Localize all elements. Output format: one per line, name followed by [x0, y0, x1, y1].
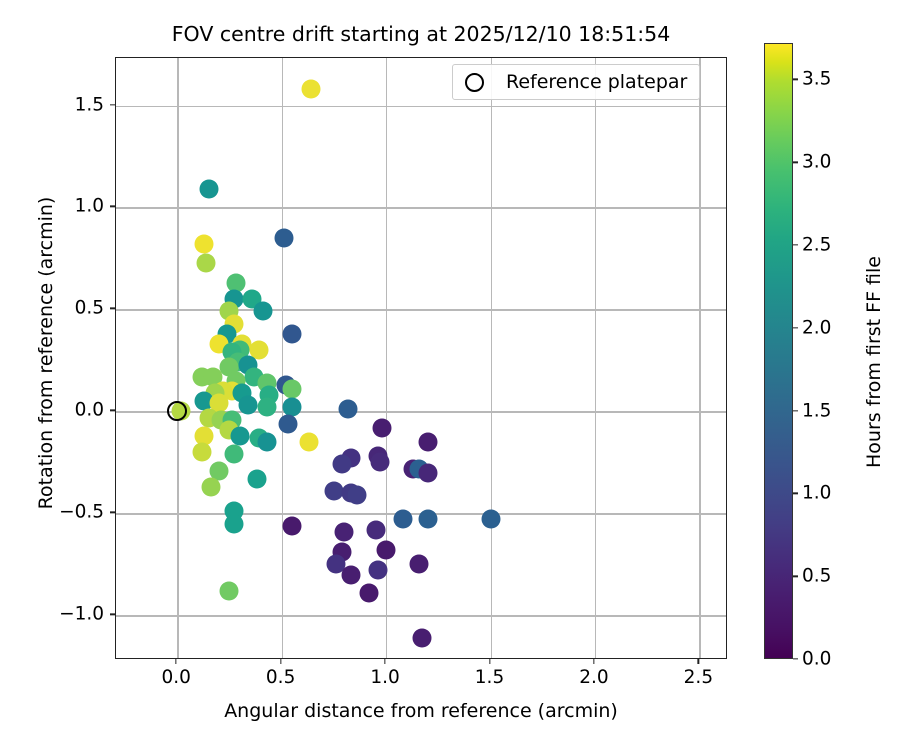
scatter-point [253, 302, 272, 321]
colorbar-gradient [764, 43, 793, 659]
scatter-point [418, 510, 437, 529]
scatter-point [333, 455, 352, 474]
x-tick-mark [384, 659, 385, 664]
reference-platepar-marker [167, 401, 187, 421]
colorbar-tick-label: 3.5 [802, 69, 831, 90]
scatter-point [283, 379, 302, 398]
gridline-vertical [699, 58, 700, 658]
x-tick-mark [280, 659, 281, 664]
scatter-point [481, 510, 500, 529]
gridline-horizontal [116, 309, 726, 310]
scatter-point [339, 400, 358, 419]
colorbar-tick-mark [793, 79, 798, 80]
scatter-point [283, 516, 302, 535]
scatter-point [418, 463, 437, 482]
colorbar-tick-mark [793, 162, 798, 163]
scatter-point [258, 432, 277, 451]
gridline-vertical [595, 58, 596, 658]
y-tick-label: 1.5 [104, 94, 133, 115]
colorbar-tick-label: 0.0 [802, 649, 831, 670]
scatter-point [201, 477, 220, 496]
y-tick-label: −0.5 [104, 502, 149, 523]
colorbar-tick-mark [793, 576, 798, 577]
colorbar-tick-mark [793, 410, 798, 411]
scatter-point [347, 486, 366, 505]
colorbar-tick-label: 1.5 [802, 400, 831, 421]
scatter-point [341, 565, 360, 584]
gridline-horizontal [116, 615, 726, 616]
colorbar-tick-label: 2.5 [802, 235, 831, 256]
gridline-vertical [491, 58, 492, 658]
figure-canvas: FOV centre drift starting at 2025/12/10 … [0, 0, 900, 750]
legend-label: Reference platepar [506, 71, 687, 93]
scatter-point [366, 520, 385, 539]
scatter-point [195, 235, 214, 254]
scatter-point [220, 581, 239, 600]
colorbar-tick-label: 3.0 [802, 152, 831, 173]
scatter-point [370, 453, 389, 472]
x-tick-label: 2.0 [579, 667, 608, 688]
colorbar-tick-mark [793, 658, 798, 659]
colorbar-label: Hours from first FF file [863, 54, 885, 670]
scatter-point [239, 396, 258, 415]
scatter-point [335, 522, 354, 541]
scatter-point [258, 398, 277, 417]
colorbar-tick-mark [793, 327, 798, 328]
x-tick-mark [489, 659, 490, 664]
x-tick-label: 0.0 [161, 667, 190, 688]
scatter-point [360, 583, 379, 602]
scatter-point [247, 469, 266, 488]
scatter-point [274, 229, 293, 248]
colorbar-tick-mark [793, 493, 798, 494]
x-axis-label: Angular distance from reference (arcmin) [115, 700, 727, 722]
y-tick-label: 0.5 [104, 298, 133, 319]
colorbar-tick-label: 0.5 [802, 566, 831, 587]
scatter-point [224, 514, 243, 533]
scatter-point [193, 443, 212, 462]
scatter-point [377, 541, 396, 560]
colorbar-tick-mark [793, 244, 798, 245]
reference-platepar-marker-icon [465, 73, 484, 92]
scatter-point [301, 80, 320, 99]
x-tick-label: 1.5 [475, 667, 504, 688]
page-title: FOV centre drift starting at 2025/12/10 … [115, 22, 727, 46]
scatter-point [368, 561, 387, 580]
colorbar-tick-label: 2.0 [802, 317, 831, 338]
x-tick-label: 0.5 [266, 667, 295, 688]
gridline-horizontal [116, 207, 726, 208]
y-tick-label: 1.0 [104, 196, 133, 217]
scatter-point [412, 628, 431, 647]
y-axis-label: Rotation from reference (arcmin) [35, 52, 57, 654]
scatter-point [197, 253, 216, 272]
scatter-point [230, 426, 249, 445]
colorbar-tick-label: 1.0 [802, 483, 831, 504]
gridline-vertical [282, 58, 283, 658]
gridline-vertical [177, 58, 178, 658]
x-tick-mark [698, 659, 699, 664]
gridline-horizontal [116, 106, 726, 107]
scatter-point [299, 432, 318, 451]
scatter-point [410, 555, 429, 574]
y-tick-label: −1.0 [104, 604, 149, 625]
y-tick-label: 0.0 [104, 400, 133, 421]
scatter-point [224, 445, 243, 464]
scatter-point [278, 414, 297, 433]
x-tick-label: 2.5 [684, 667, 713, 688]
scatter-point [283, 324, 302, 343]
scatter-point [393, 510, 412, 529]
plot-area [115, 57, 727, 659]
x-tick-mark [593, 659, 594, 664]
x-tick-label: 1.0 [370, 667, 399, 688]
scatter-point [418, 432, 437, 451]
scatter-point [372, 418, 391, 437]
scatter-point [199, 180, 218, 199]
legend: Reference platepar [452, 64, 700, 100]
x-tick-mark [176, 659, 177, 664]
